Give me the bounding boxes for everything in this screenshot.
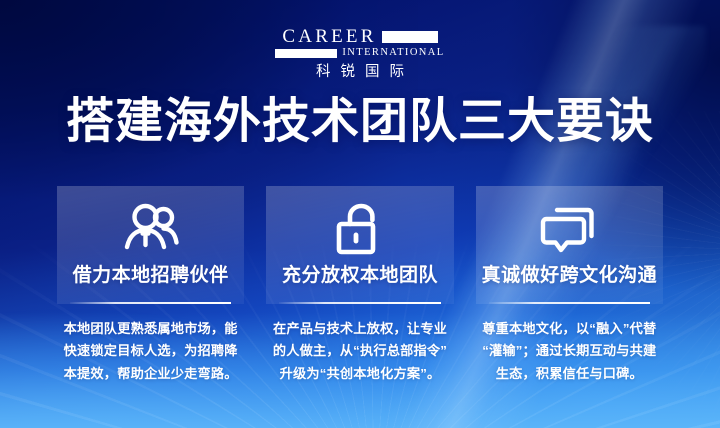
card-body-text: 尊重本地文化，以“融入”代替“灌输”；通过长期互动与共建生态，积累信任与口碑。 [476,318,663,386]
logo-row-career: CAREER [282,27,437,46]
card-title: 借力本地招聘伙伴 [73,266,229,285]
logo-chinese-name: 科锐国际 [306,65,414,80]
card-divider [279,302,440,304]
card-title: 充分放权本地团队 [282,266,438,285]
logo-row-international: INTERNATIONAL [275,48,444,59]
page-title: 搭建海外技术团队三大要诀 [0,94,720,151]
card-divider [70,302,231,304]
card-divider [489,302,650,304]
card-title: 真诚做好跨文化沟通 [482,266,658,285]
cards-row: 借力本地招聘伙伴 本地团队更熟悉属地市场，能快速锁定目标人选，为招聘降本提效，帮… [57,186,663,386]
card-leverage-local-partner: 借力本地招聘伙伴 本地团队更熟悉属地市场，能快速锁定目标人选，为招聘降本提效，帮… [57,186,244,386]
logo-bar-left [275,49,337,58]
unlocked-padlock-icon [334,186,386,260]
two-people-icon [122,186,180,260]
card-body-text: 在产品与技术上放权，让专业的人做主，从“执行总部指令”升级为“共创本地化方案”。 [266,318,453,386]
poster-root: CAREER INTERNATIONAL 科锐国际 搭建海外技术团队三大要诀 [0,0,720,428]
logo-bar-right [382,31,438,43]
card-body-text: 本地团队更熟悉属地市场，能快速锁定目标人选，为招聘降本提效，帮助企业少走弯路。 [57,318,244,386]
chat-bubbles-icon [540,186,598,260]
logo-international-text: INTERNATIONAL [342,48,444,59]
brand-logo: CAREER INTERNATIONAL 科锐国际 [0,27,720,79]
card-empower-local-team: 充分放权本地团队 在产品与技术上放权，让专业的人做主，从“执行总部指令”升级为“… [266,186,453,386]
card-cross-cultural-communication: 真诚做好跨文化沟通 尊重本地文化，以“融入”代替“灌输”；通过长期互动与共建生态… [476,186,663,386]
logo-career-text: CAREER [282,27,376,46]
